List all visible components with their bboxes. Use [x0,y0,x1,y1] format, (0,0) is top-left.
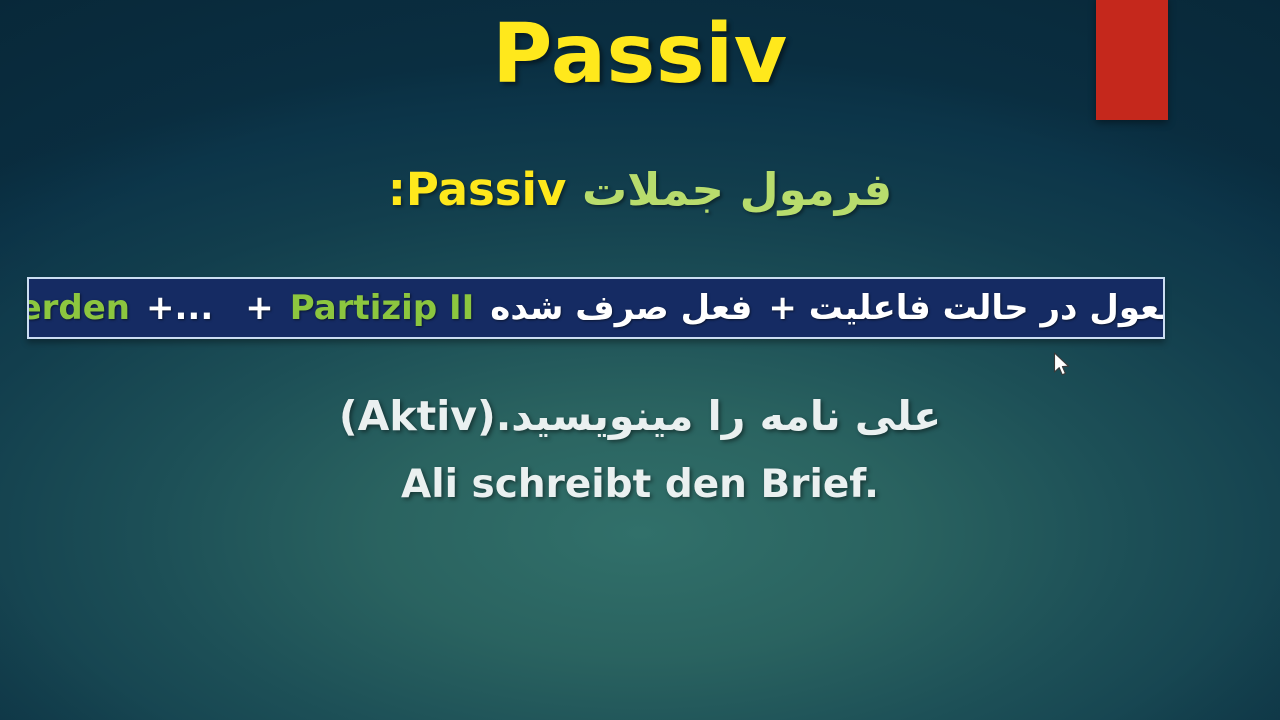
formula-plus-1: + [146,288,175,328]
slide-canvas: Passiv فرمول جملات Passiv: مفعول در حالت… [0,0,1280,720]
formula-part-object: مفعول در حالت فاعلیت + [768,288,1165,328]
subtitle: فرمول جملات Passiv: [0,162,1280,218]
formula-text: مفعول در حالت فاعلیت +فعل صرف شدهwerden+… [27,291,1165,325]
page-title-text: Passiv [492,8,787,102]
page-title: Passiv [0,8,1280,102]
formula-plus-2: + [245,288,274,328]
examples-block: علی نامه را مینویسید.(Aktiv) Ali schreib… [0,390,1280,510]
formula-part-werden: werden [27,288,130,328]
example-persian: علی نامه را مینویسید.(Aktiv) [0,390,1280,442]
formula-part-partizip: Partizip II [290,288,475,328]
example-german: Ali schreibt den Brief. [0,460,1280,510]
subtitle-german: Passiv: [388,163,566,216]
formula-part-conjugated-verb: فعل صرف شده [490,288,752,328]
subtitle-persian: فرمول جملات [566,163,892,216]
mouse-pointer-icon [1053,352,1071,378]
formula-ellipsis: ... [175,288,214,328]
formula-box: مفعول در حالت فاعلیت +فعل صرف شدهwerden+… [27,277,1165,339]
